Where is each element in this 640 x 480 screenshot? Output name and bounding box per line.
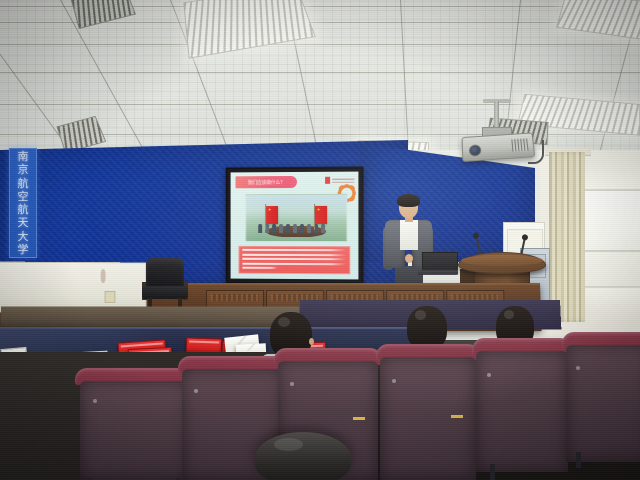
slide-body-line-1 bbox=[242, 249, 346, 251]
speaker-shirt bbox=[400, 220, 418, 250]
university-name-banner: 南 京 航 空 航 天 大 学 bbox=[9, 148, 37, 258]
speaker-hand bbox=[405, 254, 413, 263]
slide-logo bbox=[325, 177, 354, 184]
auditorium-seat[interactable] bbox=[562, 332, 640, 462]
right-window bbox=[583, 189, 640, 288]
banner-char-5: 天 bbox=[18, 217, 29, 228]
banner-char-6: 大 bbox=[18, 231, 29, 242]
projection-screen: 我们应该做什么？ bbox=[226, 166, 364, 284]
chinese-flag-icon-right bbox=[315, 206, 327, 224]
auditorium-seat[interactable] bbox=[472, 338, 572, 472]
slide-body-line-2 bbox=[242, 253, 346, 255]
slide-body-line-4 bbox=[242, 263, 346, 265]
projector-pole bbox=[494, 101, 499, 129]
projector-cable bbox=[528, 140, 544, 164]
lecture-hall-photo: 南 京 航 空 航 天 大 学 我们应该做什么？ bbox=[0, 0, 640, 480]
banner-char-7: 学 bbox=[18, 244, 29, 255]
slide-title-banner: 我们应该做什么？ bbox=[236, 176, 297, 188]
auditorium-seat[interactable] bbox=[75, 368, 193, 480]
laptop-keyboard[interactable] bbox=[418, 270, 459, 275]
projector-lens-icon bbox=[469, 144, 482, 156]
power-outlet[interactable] bbox=[105, 291, 116, 303]
chinese-flag-icon-left bbox=[266, 206, 278, 224]
slide-body-line-3 bbox=[242, 258, 346, 260]
banner-char-3: 空 bbox=[18, 191, 29, 202]
slide-photo bbox=[245, 194, 347, 242]
slide-body-text bbox=[238, 246, 350, 274]
banner-char-4: 航 bbox=[18, 204, 29, 215]
lectern-top bbox=[458, 252, 546, 274]
logo-text-line bbox=[332, 178, 354, 182]
auditorium-seat[interactable] bbox=[376, 344, 480, 480]
presentation-slide: 我们应该做什么？ bbox=[231, 172, 359, 280]
projector-vent bbox=[511, 138, 528, 151]
audience-member-front bbox=[255, 432, 351, 480]
flag-mark-icon bbox=[325, 177, 330, 184]
speaker-hair bbox=[397, 194, 420, 207]
laptop-screen bbox=[422, 252, 458, 272]
presentation-laptop[interactable] bbox=[418, 252, 458, 278]
ceiling-projector bbox=[462, 133, 536, 162]
banner-char-2: 航 bbox=[18, 178, 29, 189]
slide-body-line-5 bbox=[242, 267, 277, 269]
whiteboard-panel bbox=[0, 262, 146, 313]
banner-char-1: 京 bbox=[18, 164, 29, 175]
banner-char-0: 南 bbox=[18, 151, 29, 162]
beige-vertical-curtain bbox=[549, 152, 585, 322]
black-office-chair[interactable] bbox=[140, 258, 190, 312]
